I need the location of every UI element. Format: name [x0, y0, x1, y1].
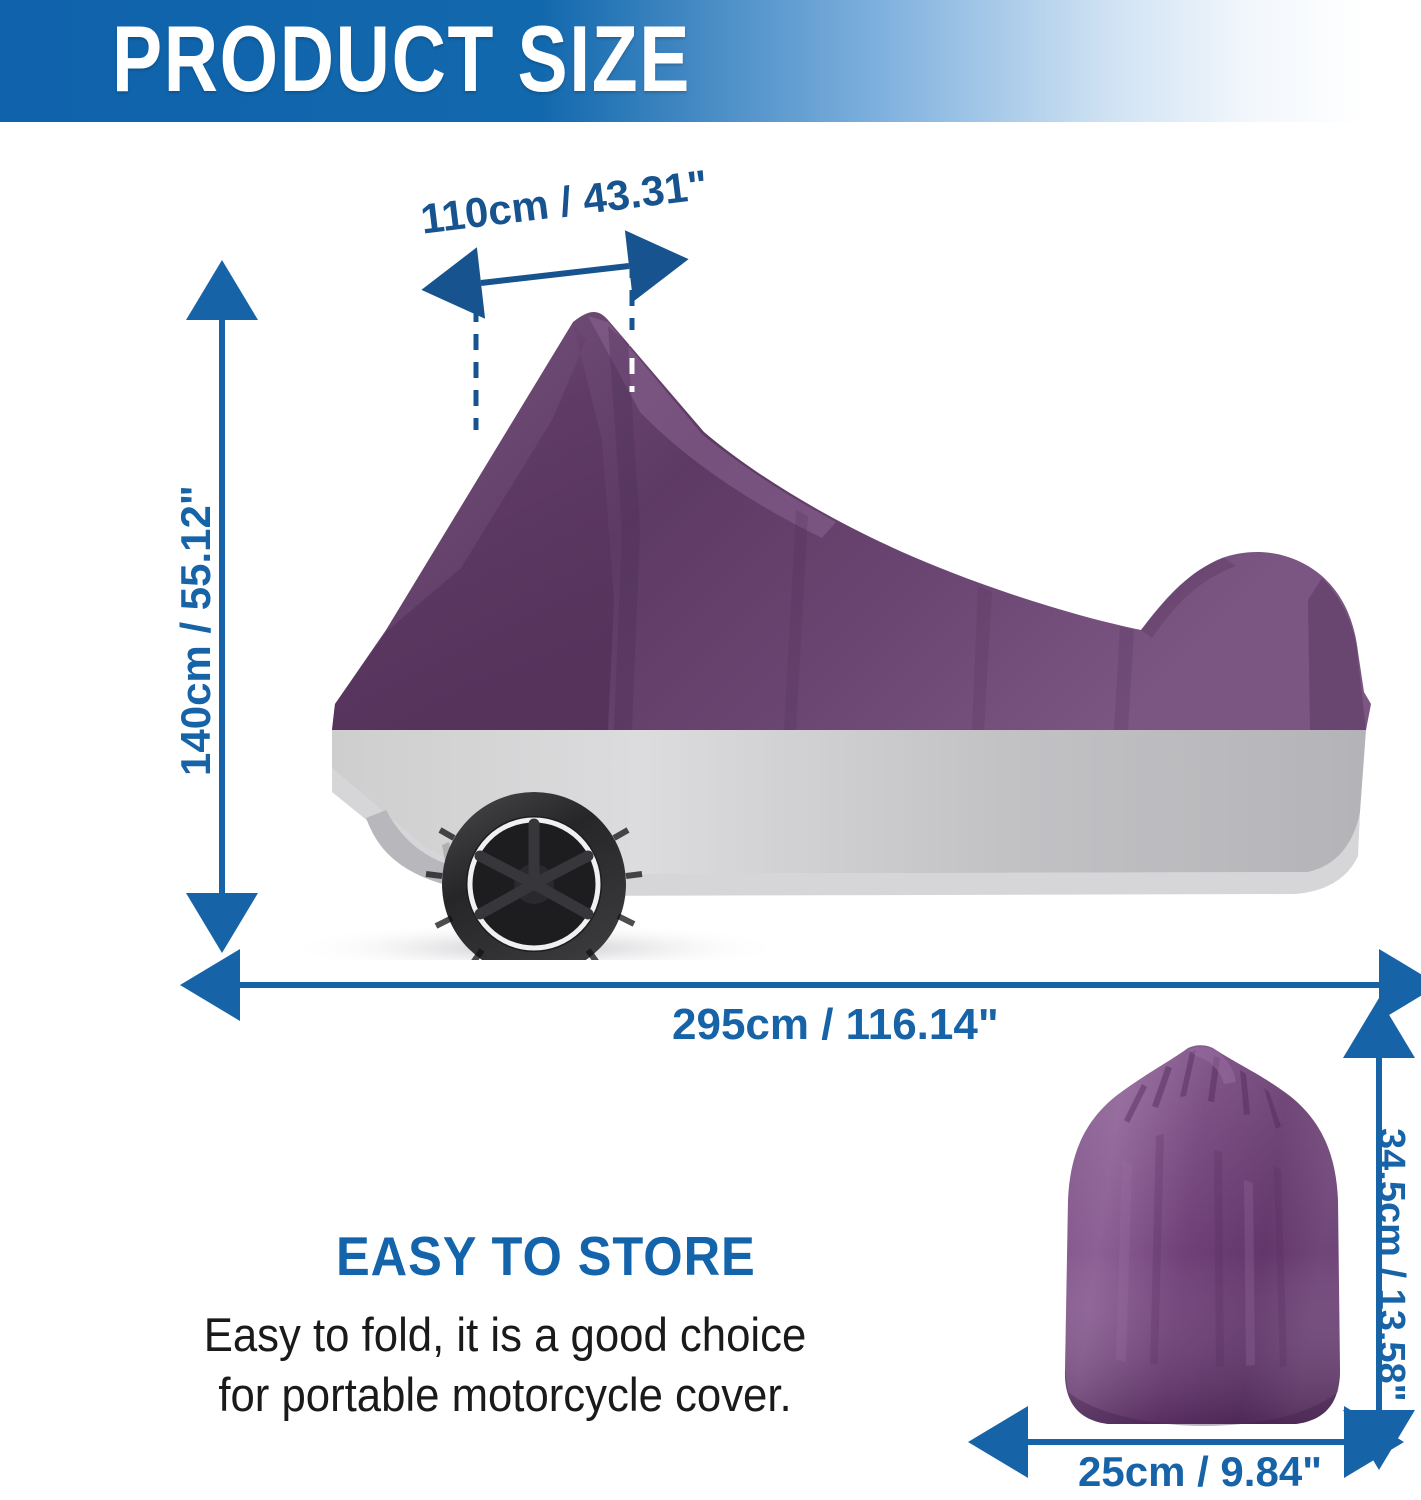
cover-top-width-label: 110cm / 43.31": [418, 161, 710, 244]
cover-length-label: 295cm / 116.14": [672, 1000, 999, 1050]
top-width-arrow-icon: [481, 266, 629, 283]
page-title: PRODUCT SIZE: [112, 10, 691, 109]
cover-tail-shade: [1308, 578, 1366, 730]
easy-to-store-line2: for portable motorcycle cover.: [138, 1365, 873, 1425]
bag-shading: [1065, 1045, 1340, 1424]
bag-width-label: 25cm / 9.84": [1078, 1448, 1322, 1496]
motorcycle-cover-illustration: [236, 300, 1396, 960]
bag-height-label: 34.5cm / 13.58": [1369, 1128, 1412, 1402]
easy-to-store-description: Easy to fold, it is a good choice for po…: [138, 1305, 873, 1425]
easy-to-store-line1: Easy to fold, it is a good choice: [138, 1305, 873, 1365]
header-banner: PRODUCT SIZE: [0, 0, 1421, 122]
cover-height-label: 140cm / 55.12": [172, 485, 220, 776]
easy-to-store-heading: EASY TO STORE: [336, 1224, 756, 1288]
storage-bag-illustration: [1038, 1040, 1368, 1440]
